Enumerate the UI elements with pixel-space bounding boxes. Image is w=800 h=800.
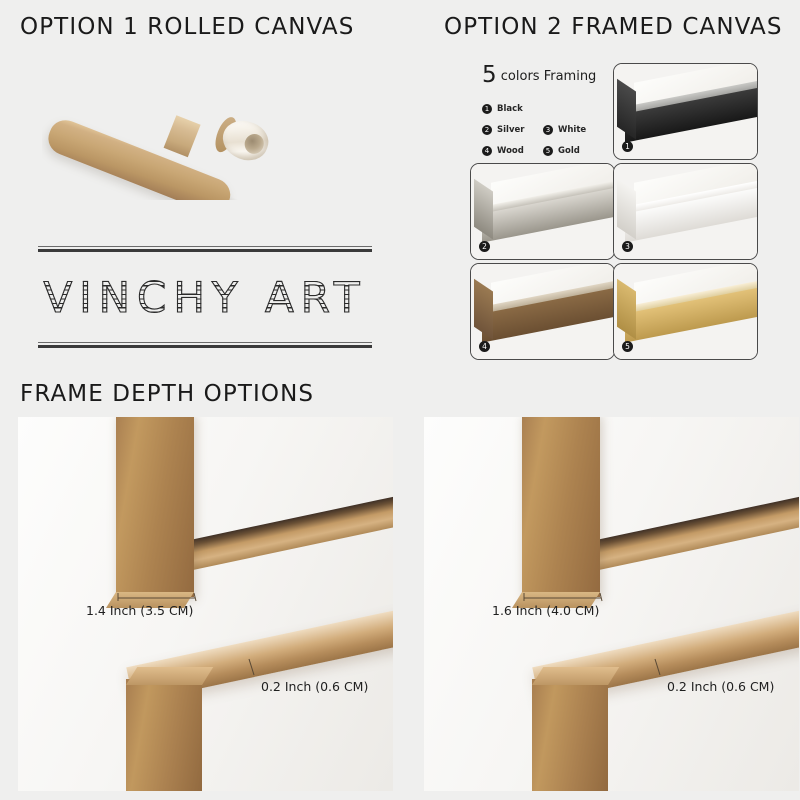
frame-post-lower — [532, 679, 608, 791]
legend-row: 1 Black — [482, 104, 612, 114]
legend-badge-icon: 1 — [482, 104, 492, 114]
swatch-badge-icon: 2 — [479, 241, 490, 252]
frame-post-upper — [522, 417, 600, 597]
legend-item-wood: 4 Wood — [482, 146, 543, 156]
frame-swatch-white[interactable]: 3 — [613, 163, 758, 260]
framing-colors-legend: 5 colors Framing 1 Black 2 Silver 3 Whit… — [482, 64, 612, 167]
depth-dimension-label: 1.6 Inch (4.0 CM) — [492, 603, 599, 618]
frame-depth-photo-right: 1.6 Inch (4.0 CM) 0.2 Inch (0.6 CM) — [424, 417, 799, 791]
legend-count: 5 — [482, 62, 497, 88]
frame-depth-photo-left: 1.4 Inch (3.5 CM) 0.2 Inch (0.6 CM) — [18, 417, 393, 791]
legend-item-label: Black — [497, 104, 523, 114]
legend-item-black: 1 Black — [482, 104, 543, 114]
tube-band — [164, 115, 201, 157]
tube-body — [44, 115, 235, 200]
legend-rows: 1 Black 2 Silver 3 White 4 Wood — [482, 104, 612, 156]
frame-swatch-gold[interactable]: 5 — [613, 263, 758, 360]
legend-badge-icon: 5 — [543, 146, 553, 156]
legend-item-label: Gold — [558, 146, 580, 156]
legend-badge-icon: 4 — [482, 146, 492, 156]
brand-name: VINCHY ART — [38, 272, 372, 324]
depth-dimension-label: 1.4 Inch (3.5 CM) — [86, 603, 193, 618]
rolled-canvas-tube-photo — [42, 62, 292, 200]
brand-logo-block: VINCHY ART — [38, 246, 372, 351]
swatch-badge-icon: 4 — [479, 341, 490, 352]
legend-row: 4 Wood 5 Gold — [482, 146, 612, 156]
legend-row: 2 Silver 3 White — [482, 125, 612, 135]
option1-heading: OPTION 1 ROLLED CANVAS — [20, 14, 354, 40]
frame-depth-heading: FRAME DEPTH OPTIONS — [20, 381, 314, 407]
infographic-canvas: OPTION 1 ROLLED CANVAS VINCHY ART OPTION… — [0, 0, 800, 800]
frame-rail-upper — [571, 477, 799, 575]
frame-swatch-silver[interactable]: 2 — [470, 163, 615, 260]
thickness-dimension-label: 0.2 Inch (0.6 CM) — [667, 679, 774, 694]
legend-item-label: Silver — [497, 125, 524, 135]
frame-rail-upper — [165, 477, 393, 575]
legend-title-rest: colors Framing — [501, 69, 597, 84]
frame-post-lower — [126, 679, 202, 791]
frame-post-upper — [116, 417, 194, 597]
swatch-badge-icon: 1 — [622, 141, 633, 152]
dimension-leaders — [424, 417, 799, 791]
legend-badge-icon: 2 — [482, 125, 492, 135]
logo-rule-top — [38, 246, 372, 252]
legend-item-silver: 2 Silver — [482, 125, 543, 135]
frame-swatch-black[interactable]: 1 — [613, 63, 758, 160]
swatch-badge-icon: 5 — [622, 341, 633, 352]
option2-heading: OPTION 2 FRAMED CANVAS — [444, 14, 783, 40]
legend-item-gold: 5 Gold — [543, 146, 604, 156]
legend-item-label: Wood — [497, 146, 524, 156]
thickness-dimension-label: 0.2 Inch (0.6 CM) — [261, 679, 368, 694]
logo-rule-bottom — [38, 342, 372, 348]
swatch-badge-icon: 3 — [622, 241, 633, 252]
legend-title: 5 colors Framing — [482, 64, 612, 87]
legend-item-label: White — [558, 125, 586, 135]
frame-swatch-wood[interactable]: 4 — [470, 263, 615, 360]
legend-badge-icon: 3 — [543, 125, 553, 135]
legend-item-white: 3 White — [543, 125, 604, 135]
dimension-leaders — [18, 417, 393, 791]
